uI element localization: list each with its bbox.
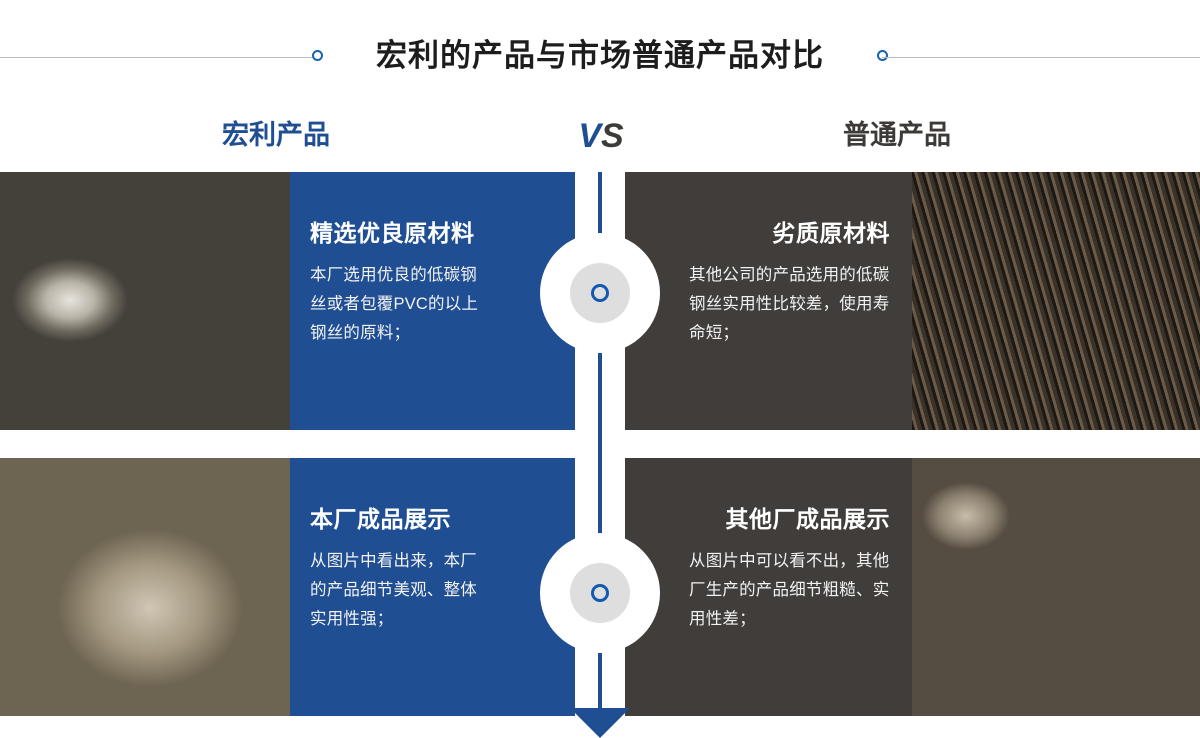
header-rule-right [882,57,1200,58]
page-title: 宏利的产品与市场普通产品对比 [0,32,1200,80]
column-headings: 宏利产品 VS 普通产品 [0,112,1200,164]
vs-badge: VS [566,110,636,162]
page-header: 宏利的产品与市场普通产品对比 [0,0,1200,100]
node-ring [591,584,609,602]
circle-ring-node-icon-2 [540,533,660,653]
photo-rusty-wire-coil [912,172,1200,430]
column-heading-bad: 普通产品 [843,112,951,158]
panel-title: 劣质原材料 [689,218,890,248]
circle-outline-icon-right [877,50,888,61]
panel-body: 本厂选用优良的低碳钢丝或者包覆PVC的以上钢丝的原料； [310,261,479,348]
panel-body: 从图片中看出来，本厂的产品细节美观、整体实用性强； [310,547,479,634]
photo-texture [0,172,290,430]
photo-quality-wire-coils [0,172,290,430]
photo-texture [912,172,1200,430]
circle-ring-node-icon-1 [540,233,660,353]
panel-good-row-2: 本厂成品展示 从图片中看出来，本厂的产品细节美观、整体实用性强； [290,458,575,716]
panel-body: 其他公司的产品选用的低碳钢丝实用性比较差，使用寿命短； [689,261,890,348]
column-heading-good: 宏利产品 [222,112,330,158]
panel-body: 从图片中可以看不出，其他厂生产的产品细节粗糙、实用性差； [689,547,890,634]
triangle-down-icon [570,708,630,738]
panel-title: 精选优良原材料 [310,218,479,248]
vs-letter-s: S [601,117,624,155]
panel-title: 其他厂成品展示 [689,504,890,534]
panel-bad-row-2: 其他厂成品展示 从图片中可以看不出，其他厂生产的产品细节粗糙、实用性差； [625,458,912,716]
node-ring [591,284,609,302]
vs-letter-v: V [578,117,601,155]
panel-bad-row-1: 劣质原材料 其他公司的产品选用的低碳钢丝实用性比较差，使用寿命短； [625,172,912,430]
panel-title: 本厂成品展示 [310,504,479,534]
photo-gabion-finished-product [0,458,290,716]
photo-rough-stone-gabion [912,458,1200,716]
photo-texture [0,458,290,716]
panel-good-row-1: 精选优良原材料 本厂选用优良的低碳钢丝或者包覆PVC的以上钢丝的原料； [290,172,575,430]
photo-texture [912,458,1200,716]
